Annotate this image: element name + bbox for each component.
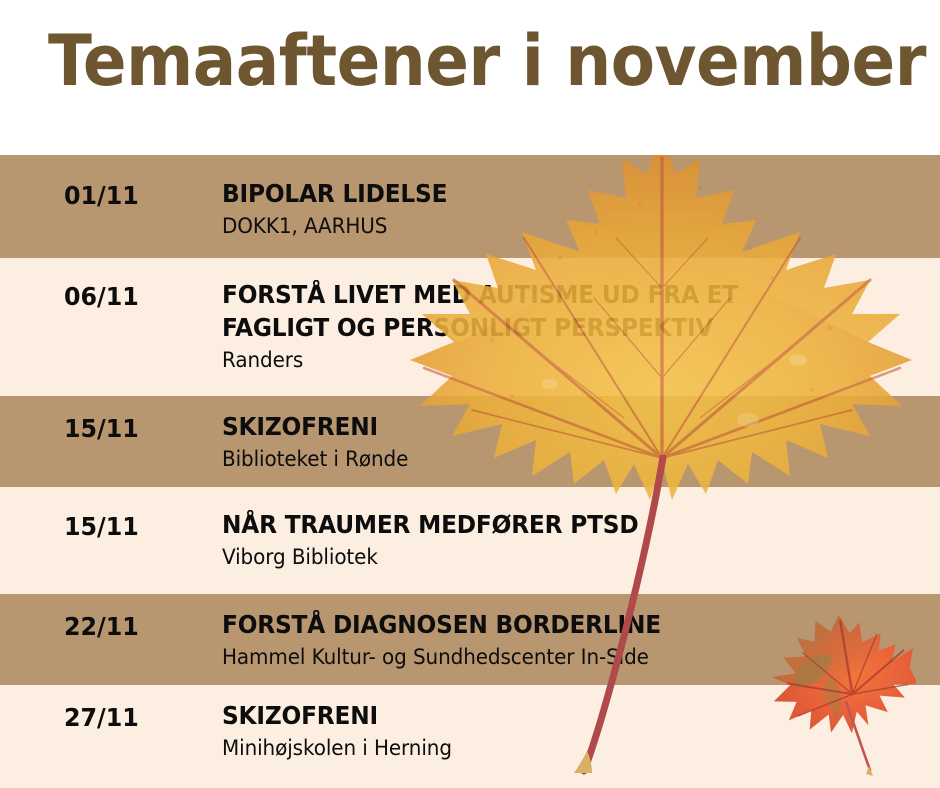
row-venue: Hammel Kultur- og Sundhedscenter In-Side xyxy=(222,643,895,671)
row-body: FORSTÅ DIAGNOSEN BORDERLINE Hammel Kultu… xyxy=(222,608,930,671)
row-title-line: FORSTÅ LIVET MED AUTISME UD FRA ET xyxy=(222,278,880,311)
page-title: Temaaftener i november xyxy=(48,26,926,96)
schedule-row: 15/11 SKIZOFRENI Biblioteket i Rønde xyxy=(0,396,940,487)
poster-header: Temaaftener i november xyxy=(0,0,940,155)
row-venue: Minihøjskolen i Herning xyxy=(222,734,895,762)
row-title-line: BIPOLAR LIDELSE xyxy=(222,177,880,210)
row-title-line: SKIZOFRENI xyxy=(222,410,880,443)
row-date: 27/11 xyxy=(64,703,139,732)
schedule-row: 15/11 NÅR TRAUMER MEDFØRER PTSD Viborg B… xyxy=(0,487,940,594)
row-body: BIPOLAR LIDELSE DOKK1, AARHUS xyxy=(222,177,930,240)
row-venue: Randers xyxy=(222,346,895,374)
row-body: SKIZOFRENI Biblioteket i Rønde xyxy=(222,410,930,473)
row-date: 15/11 xyxy=(64,512,139,541)
row-title-line: FORSTÅ DIAGNOSEN BORDERLINE xyxy=(222,608,880,641)
schedule-row: 06/11 FORSTÅ LIVET MED AUTISME UD FRA ET… xyxy=(0,258,940,396)
row-body: NÅR TRAUMER MEDFØRER PTSD Viborg Bibliot… xyxy=(222,508,930,571)
row-title: NÅR TRAUMER MEDFØRER PTSD xyxy=(222,508,880,541)
poster-canvas: 01/11 BIPOLAR LIDELSE DOKK1, AARHUS 06/1… xyxy=(0,0,940,788)
row-date: 15/11 xyxy=(64,414,139,443)
row-body: SKIZOFRENI Minihøjskolen i Herning xyxy=(222,699,930,762)
row-date: 01/11 xyxy=(64,181,139,210)
row-body: FORSTÅ LIVET MED AUTISME UD FRA ET FAGLI… xyxy=(222,278,930,374)
row-date: 06/11 xyxy=(64,282,139,311)
row-venue: Biblioteket i Rønde xyxy=(222,445,895,473)
row-title: BIPOLAR LIDELSE xyxy=(222,177,880,210)
row-venue: Viborg Bibliotek xyxy=(222,543,895,571)
row-title: SKIZOFRENI xyxy=(222,410,880,443)
row-title-line: SKIZOFRENI xyxy=(222,699,880,732)
schedule-row: 01/11 BIPOLAR LIDELSE DOKK1, AARHUS xyxy=(0,155,940,258)
row-venue: DOKK1, AARHUS xyxy=(222,212,895,240)
schedule-row: 22/11 FORSTÅ DIAGNOSEN BORDERLINE Hammel… xyxy=(0,594,940,685)
row-title: SKIZOFRENI xyxy=(222,699,880,732)
schedule-row: 27/11 SKIZOFRENI Minihøjskolen i Herning xyxy=(0,685,940,788)
row-title: FORSTÅ LIVET MED AUTISME UD FRA ET FAGLI… xyxy=(222,278,880,344)
row-title: FORSTÅ DIAGNOSEN BORDERLINE xyxy=(222,608,880,641)
row-date: 22/11 xyxy=(64,612,139,641)
row-title-line: FAGLIGT OG PERSONLIGT PERSPEKTIV xyxy=(222,311,880,344)
row-title-line: NÅR TRAUMER MEDFØRER PTSD xyxy=(222,508,880,541)
